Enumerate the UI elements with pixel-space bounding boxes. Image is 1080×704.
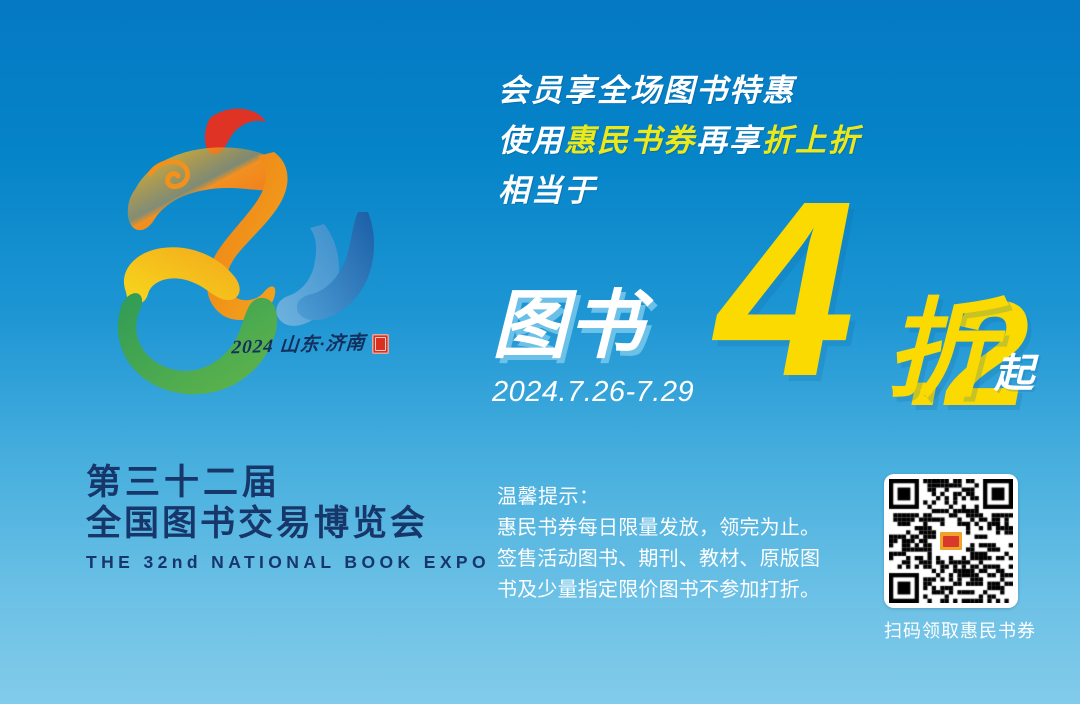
notice-block: 温馨提示： 惠民书券每日限量发放，领完为止。 签售活动图书、期刊、教材、原版图 …: [497, 482, 857, 607]
expo-logo-mark: [78, 96, 408, 406]
qr-center-logo-icon: [938, 530, 964, 552]
price-integer: 4: [716, 164, 849, 414]
expo-name-block: 第三十二届 全国图书交易博览会 THE 32nd NATIONAL BOOK E…: [86, 462, 490, 573]
promo-date-range: 2024.7.26-7.29: [492, 376, 694, 409]
headline-line-2-accent1: 惠民书券: [564, 123, 696, 158]
expo-edition: 第三十二届: [86, 462, 490, 503]
price-label: 图书: [492, 288, 644, 363]
expo-title-en: THE 32nd NATIONAL BOOK EXPO: [86, 552, 490, 573]
notice-line: 惠民书券每日限量发放，领完为止。: [497, 513, 857, 544]
notice-line: 书及少量指定限价图书不参加打折。: [497, 575, 857, 606]
headline-line-2-part1: 使用: [498, 123, 564, 158]
qr-center-logo-inner: [943, 536, 959, 547]
notice-body: 惠民书券每日限量发放，领完为止。 签售活动图书、期刊、教材、原版图 书及少量指定…: [497, 513, 857, 607]
qr-caption: 扫码领取惠民书券: [884, 617, 1024, 643]
price-unit: 折: [886, 296, 994, 404]
expo-title: 全国图书交易博览会: [86, 503, 490, 546]
price-block: 4 图书 .2 折 起 2024.7.26-7.29: [488, 186, 1068, 416]
expo-logo-caption-text: 2024 山东·济南: [231, 328, 367, 360]
price-suffix: 起: [994, 354, 1034, 394]
notice-line: 签售活动图书、期刊、教材、原版图: [497, 544, 857, 575]
notice-title: 温馨提示：: [497, 482, 857, 513]
seal-icon: [372, 334, 389, 354]
qr-code[interactable]: [884, 474, 1018, 608]
qr-block: 扫码领取惠民书券: [884, 474, 1024, 643]
promo-poster: 2024 山东·济南 第三十二届 全国图书交易博览会 THE 32nd NATI…: [0, 0, 1080, 704]
expo-logo-caption: 2024 山东·济南: [232, 330, 389, 357]
headline-line-1: 会员享全场图书特惠: [498, 66, 1058, 116]
